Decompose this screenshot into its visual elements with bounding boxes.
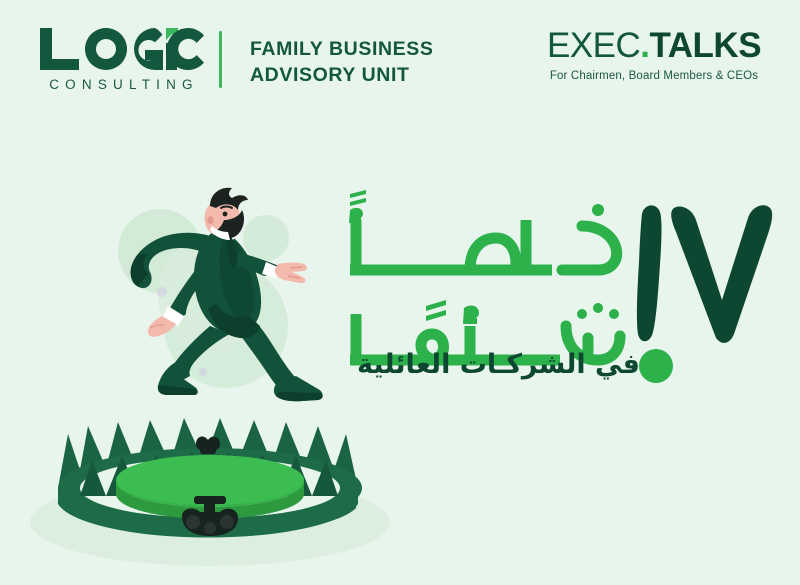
exec-talks-wordmark: EXEC.TALKS <box>536 28 772 63</box>
poster-canvas: CONSULTING FAMILY BUSINESS ADVISORY UNIT… <box>0 0 800 585</box>
number-bullet-dot <box>639 349 673 383</box>
running-businessman-illustration <box>98 176 328 421</box>
unit-title-line1: FAMILY BUSINESS <box>250 36 433 62</box>
exec-word-bold: TALKS <box>649 26 761 65</box>
headline-line3: في الشركـات العائلية <box>330 349 640 380</box>
advisory-unit-title: FAMILY BUSINESS ADVISORY UNIT <box>250 36 433 89</box>
unit-title-line2: ADVISORY UNIT <box>250 62 433 88</box>
logic-wordmark-icon <box>38 26 206 72</box>
header-bar: CONSULTING FAMILY BUSINESS ADVISORY UNIT… <box>0 0 800 118</box>
bear-trap-illustration <box>24 404 396 584</box>
headline-number-17 <box>636 192 786 392</box>
header-divider <box>219 31 222 88</box>
logic-logo[interactable]: CONSULTING <box>38 26 206 92</box>
exec-talks-tagline: For Chairmen, Board Members & CEOs <box>536 70 772 82</box>
logic-logo-subtitle: CONSULTING <box>38 78 206 92</box>
arabic-headline: في الشركـات العائلية <box>330 186 640 386</box>
exec-talks-logo[interactable]: EXEC.TALKS For Chairmen, Board Members &… <box>536 28 772 82</box>
exec-word-light: EXEC <box>547 26 640 65</box>
